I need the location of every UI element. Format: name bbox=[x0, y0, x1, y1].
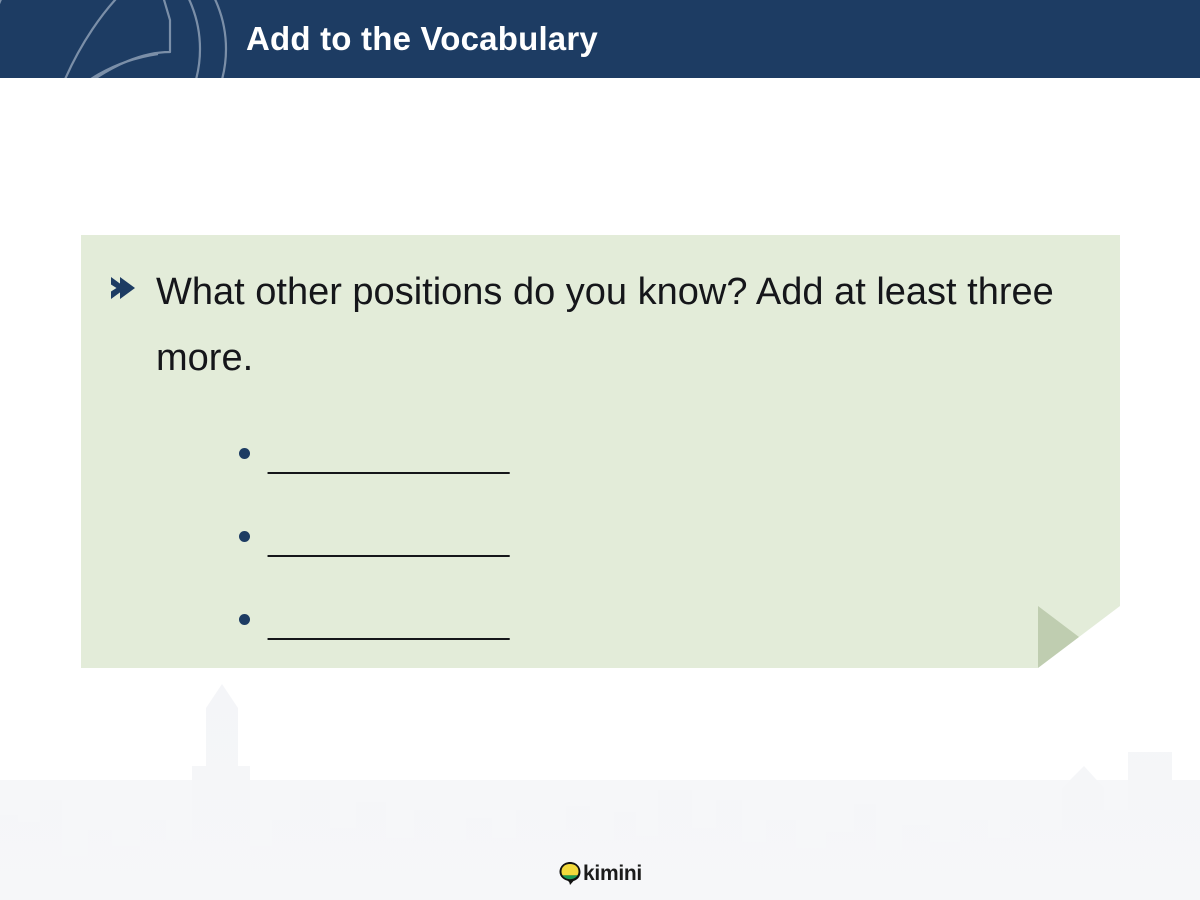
brand-name: kimini bbox=[583, 861, 642, 886]
card-corner-cut bbox=[1038, 606, 1120, 668]
bullet-dot-icon bbox=[239, 448, 250, 459]
kimini-circle-logo bbox=[558, 861, 582, 886]
slide-root: Add to the Vocabulary What other positio… bbox=[0, 0, 1200, 900]
bullet-dot-icon bbox=[239, 531, 250, 542]
header-bar: Add to the Vocabulary bbox=[0, 0, 1200, 78]
content-card: What other positions do you know? Add at… bbox=[81, 235, 1120, 668]
list-item[interactable]: ______________ bbox=[239, 586, 509, 652]
blank-answer-line[interactable]: ______________ bbox=[268, 608, 509, 639]
blank-answer-line[interactable]: ______________ bbox=[268, 525, 509, 556]
blank-answer-line[interactable]: ______________ bbox=[268, 442, 509, 473]
list-item[interactable]: ______________ bbox=[239, 420, 509, 486]
chevron-right-icon bbox=[108, 275, 142, 306]
list-item[interactable]: ______________ bbox=[239, 503, 509, 569]
page-title: Add to the Vocabulary bbox=[246, 0, 598, 78]
prompt-text: What other positions do you know? Add at… bbox=[142, 259, 1092, 391]
bullet-dot-icon bbox=[239, 614, 250, 625]
footer-brand: kimini bbox=[0, 861, 1200, 886]
blank-answer-list: ______________ ______________ __________… bbox=[239, 420, 509, 669]
prompt-row: What other positions do you know? Add at… bbox=[108, 259, 1092, 391]
kimini-swoosh-logo-watermark bbox=[0, 0, 248, 78]
